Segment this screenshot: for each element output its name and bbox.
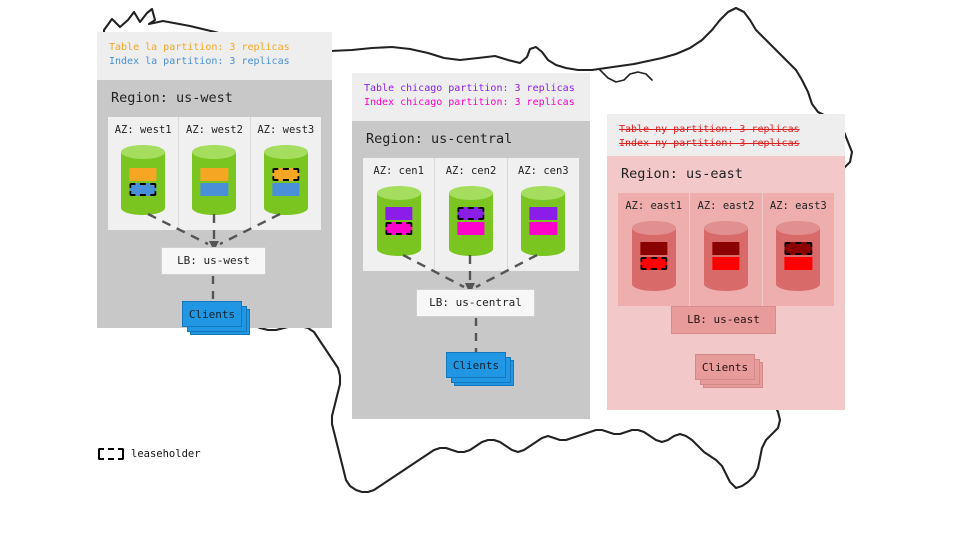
region-body-us-east: Region: us-east AZ: east1	[607, 156, 845, 410]
legend-line-table: Table la partition: 3 replicas	[109, 41, 320, 55]
node-cylinder[interactable]	[704, 221, 748, 291]
az-cen3[interactable]: AZ: cen3	[508, 158, 579, 271]
legend-line-index: Index chicago partition: 3 replicas	[364, 96, 578, 110]
band-table-replica	[385, 207, 412, 220]
band-index-replica	[457, 222, 484, 235]
node-cylinder[interactable]	[192, 145, 236, 215]
band-index-replica-leaseholder	[640, 257, 667, 270]
band-index-replica	[712, 257, 739, 270]
band-index-replica	[201, 183, 228, 196]
clients-box-front[interactable]: Clients	[695, 354, 755, 380]
az-strip-us-west: AZ: west1 AZ: west2	[108, 117, 321, 230]
band-table-replica	[530, 207, 557, 220]
node-cylinder[interactable]	[776, 221, 820, 291]
az-label: AZ: east3	[763, 200, 834, 212]
node-cylinder[interactable]	[121, 145, 165, 215]
region-title-us-central: Region: us-central	[352, 121, 590, 147]
az-label: AZ: west1	[108, 124, 178, 136]
clients-us-central[interactable]: Clients	[446, 352, 518, 386]
load-balancer-us-central[interactable]: LB: us-central	[416, 289, 535, 317]
leaseholder-legend-label: leaseholder	[131, 448, 201, 460]
az-label: AZ: cen2	[435, 165, 506, 177]
band-index-replica	[785, 257, 812, 270]
az-label: AZ: east1	[618, 200, 689, 212]
band-table-replica-leaseholder	[457, 207, 484, 220]
az-cen1[interactable]: AZ: cen1	[363, 158, 435, 271]
diagram-canvas: Table la partition: 3 replicas Index la …	[0, 0, 960, 540]
leaseholder-swatch-icon	[98, 448, 124, 460]
leaseholder-legend: leaseholder	[98, 448, 201, 460]
az-label: AZ: west2	[179, 124, 249, 136]
az-label: AZ: west3	[251, 124, 321, 136]
clients-us-west[interactable]: Clients	[182, 301, 254, 335]
az-label: AZ: cen1	[363, 165, 434, 177]
clients-us-east[interactable]: Clients	[695, 354, 767, 388]
node-cylinder[interactable]	[264, 145, 308, 215]
legend-line-table: Table ny partition: 3 replicas	[619, 123, 833, 137]
az-cen2[interactable]: AZ: cen2	[435, 158, 507, 271]
az-east3[interactable]: AZ: east3	[763, 193, 834, 306]
az-west1[interactable]: AZ: west1	[108, 117, 179, 230]
clients-box-front[interactable]: Clients	[446, 352, 506, 378]
legend-line-index: Index ny partition: 3 replicas	[619, 137, 833, 151]
region-body-us-west: Region: us-west AZ: west1 AZ: west2	[97, 80, 332, 328]
partition-legend-us-central: Table chicago partition: 3 replicas Inde…	[352, 73, 590, 121]
lb-to-clients-connector	[202, 276, 224, 302]
partition-legend-us-east: Table ny partition: 3 replicas Index ny …	[607, 114, 845, 156]
az-strip-us-central: AZ: cen1 AZ: cen2	[363, 158, 579, 271]
band-table-replica	[640, 242, 667, 255]
az-strip-us-east: AZ: east1 AZ: east2	[618, 193, 834, 306]
region-title-us-east: Region: us-east	[607, 156, 845, 182]
az-east1[interactable]: AZ: east1	[618, 193, 690, 306]
node-cylinder[interactable]	[449, 186, 493, 256]
band-table-replica-leaseholder	[785, 242, 812, 255]
band-index-replica	[272, 183, 299, 196]
az-east2[interactable]: AZ: east2	[690, 193, 762, 306]
lb-to-clients-connector	[465, 318, 487, 353]
az-label: AZ: east2	[690, 200, 761, 212]
legend-line-index: Index la partition: 3 replicas	[109, 55, 320, 69]
load-balancer-us-east[interactable]: LB: us-east	[671, 306, 776, 334]
region-panel-us-west: Table la partition: 3 replicas Index la …	[97, 32, 332, 328]
clients-box-front[interactable]: Clients	[182, 301, 242, 327]
az-label: AZ: cen3	[508, 165, 579, 177]
legend-line-table: Table chicago partition: 3 replicas	[364, 82, 578, 96]
az-west2[interactable]: AZ: west2	[179, 117, 250, 230]
band-index-replica	[530, 222, 557, 235]
partition-legend-us-west: Table la partition: 3 replicas Index la …	[97, 32, 332, 80]
band-table-replica	[712, 242, 739, 255]
band-index-replica-leaseholder	[130, 183, 157, 196]
band-table-replica	[130, 168, 157, 181]
region-panel-us-central: Table chicago partition: 3 replicas Inde…	[352, 73, 590, 419]
node-cylinder[interactable]	[521, 186, 565, 256]
load-balancer-us-west[interactable]: LB: us-west	[161, 247, 266, 275]
node-cylinder[interactable]	[377, 186, 421, 256]
band-table-replica	[201, 168, 228, 181]
node-cylinder[interactable]	[632, 221, 676, 291]
region-panel-us-east: Table ny partition: 3 replicas Index ny …	[607, 114, 845, 410]
az-west3[interactable]: AZ: west3	[251, 117, 321, 230]
band-index-replica-leaseholder	[385, 222, 412, 235]
region-title-us-west: Region: us-west	[97, 80, 332, 106]
region-body-us-central: Region: us-central AZ: cen1 AZ: cen2	[352, 121, 590, 419]
band-table-replica-leaseholder	[272, 168, 299, 181]
